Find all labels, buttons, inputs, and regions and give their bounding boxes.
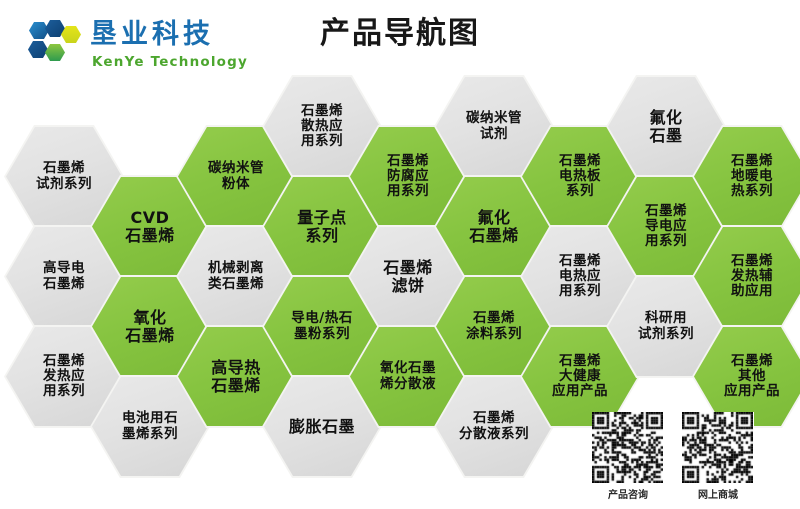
product-navigation-map: 垦业科技 KenYe Technology 产品导航图 石墨烯 试剂系列高导电 … (0, 0, 800, 509)
hex-cell-dinuan-dianre[interactable]: 石墨烯 地暖电 热系列 (692, 124, 800, 229)
logo-english-name: KenYe Technology (92, 54, 248, 70)
hex-label: 石墨烯 其他 应用产品 (702, 354, 800, 399)
hex-label: 石墨烯 地暖电 热系列 (702, 154, 800, 199)
qr-product-consult-image (592, 412, 663, 483)
qr-product-consult-label: 产品咨询 (592, 486, 664, 501)
qr-online-store-label: 网上商城 (682, 486, 754, 501)
qr-product-consult[interactable] (592, 412, 664, 484)
qr-online-store-image (682, 412, 753, 483)
hex-fare-fuzhu[interactable]: 石墨烯 发热辅 助应用 (694, 226, 800, 327)
qr-online-store[interactable] (682, 412, 754, 484)
page-title: 产品导航图 (0, 8, 800, 52)
hex-dinuan-dianre[interactable]: 石墨烯 地暖电 热系列 (694, 126, 800, 227)
hex-cell-fare-fuzhu[interactable]: 石墨烯 发热辅 助应用 (692, 224, 800, 329)
qr-code-block: 产品咨询网上商城 (592, 412, 762, 502)
hex-label: 石墨烯 发热辅 助应用 (702, 254, 800, 299)
